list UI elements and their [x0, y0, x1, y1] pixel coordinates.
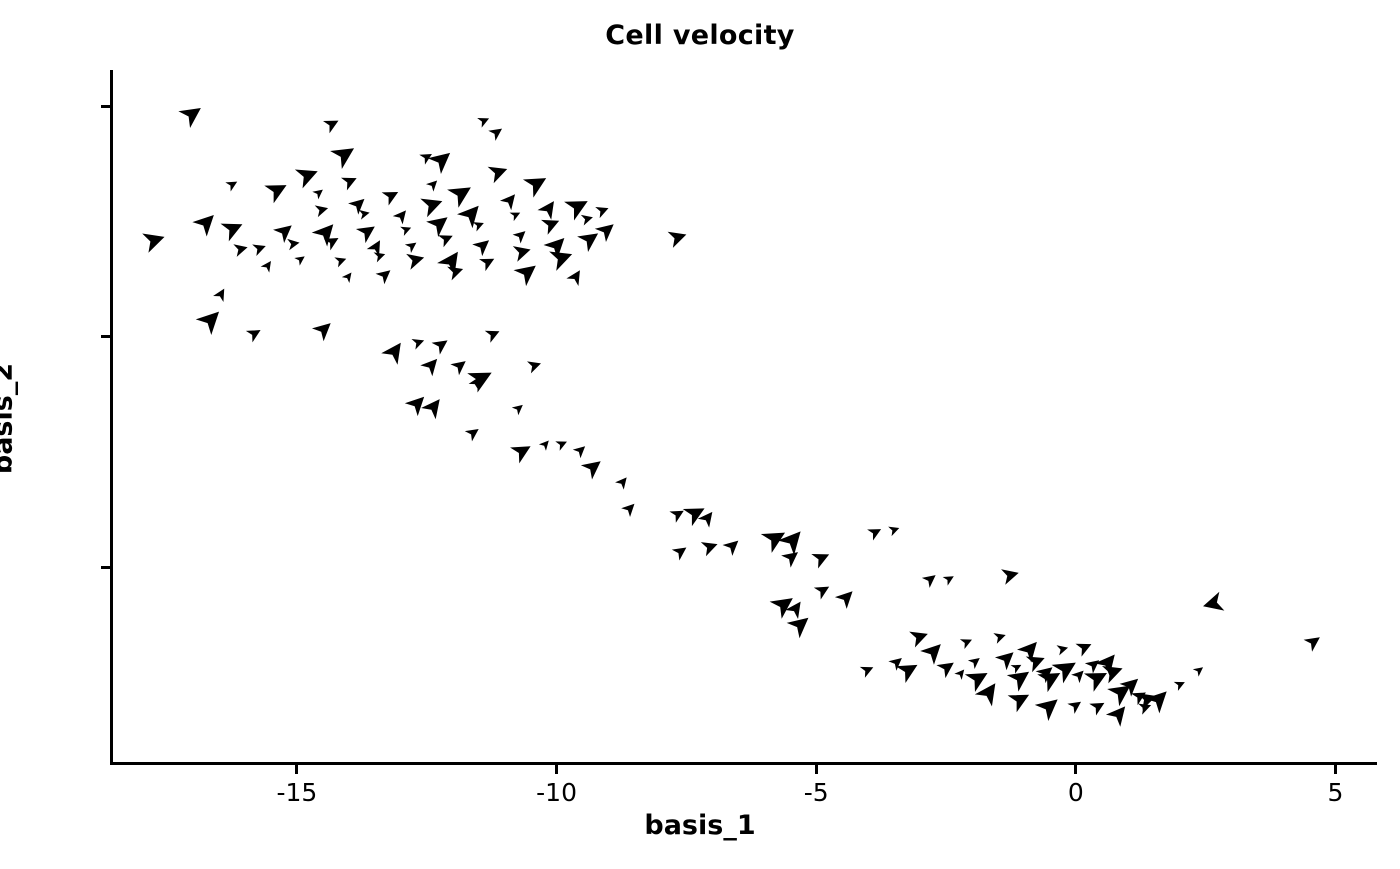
velocity-arrow-marker — [968, 654, 983, 669]
arrowhead-icon — [426, 177, 441, 192]
arrowhead-icon — [723, 535, 744, 556]
arrowhead-icon — [1075, 638, 1094, 657]
velocity-arrow-marker — [867, 524, 884, 541]
arrowhead-icon — [419, 149, 434, 164]
arrowhead-icon — [943, 572, 957, 586]
arrowhead-icon — [1008, 686, 1034, 712]
arrowhead-icon — [787, 610, 815, 638]
arrowhead-icon — [701, 537, 720, 556]
arrowhead-icon — [778, 524, 809, 555]
velocity-arrow-marker — [539, 437, 552, 450]
arrowhead-icon — [513, 242, 533, 262]
arrowhead-icon — [564, 192, 593, 221]
velocity-arrow-marker — [264, 176, 291, 203]
velocity-arrow-marker — [778, 524, 809, 555]
quiver-marker-layer — [110, 70, 1377, 765]
velocity-arrow-marker — [595, 203, 611, 219]
arrowhead-icon — [968, 654, 983, 669]
arrowhead-icon — [405, 390, 431, 416]
arrowhead-icon — [472, 234, 494, 256]
arrowhead-icon — [1007, 664, 1035, 692]
arrowhead-icon — [566, 266, 585, 285]
velocity-arrow-marker — [1193, 663, 1206, 676]
velocity-arrow-marker — [192, 208, 221, 237]
arrowhead-icon — [867, 524, 884, 541]
arrowhead-icon — [1057, 643, 1070, 656]
arrowhead-icon — [142, 227, 167, 252]
velocity-arrow-marker — [549, 244, 576, 271]
velocity-arrow-marker — [1075, 638, 1094, 657]
velocity-arrow-marker — [1304, 631, 1325, 652]
arrowhead-icon — [213, 286, 229, 302]
arrowhead-icon — [356, 219, 380, 243]
arrowhead-icon — [479, 253, 497, 271]
velocity-arrow-marker — [1057, 643, 1070, 656]
arrowhead-icon — [860, 662, 876, 678]
velocity-arrow-marker — [1035, 691, 1065, 721]
arrowhead-icon — [954, 666, 968, 680]
velocity-arrow-marker — [1007, 664, 1035, 692]
velocity-arrow-marker — [564, 192, 593, 221]
velocity-arrow-marker — [374, 249, 387, 262]
velocity-arrow-marker — [420, 353, 443, 376]
arrowhead-icon — [555, 437, 569, 451]
velocity-arrow-marker — [432, 334, 452, 354]
x-tick-label: -5 — [804, 778, 829, 807]
velocity-arrow-marker — [312, 217, 341, 246]
x-axis-label: basis_1 — [0, 810, 1400, 841]
velocity-arrow-marker — [376, 265, 395, 284]
velocity-arrow-marker — [225, 177, 240, 192]
arrowhead-icon — [523, 169, 551, 197]
velocity-arrow-marker — [621, 499, 639, 517]
velocity-arrow-marker — [787, 610, 815, 638]
arrowhead-icon — [510, 208, 523, 221]
arrowhead-icon — [835, 585, 859, 609]
velocity-arrow-marker — [581, 212, 594, 225]
arrowhead-icon — [1001, 565, 1021, 585]
arrowhead-icon — [323, 115, 342, 134]
arrowhead-icon — [432, 334, 452, 354]
velocity-arrow-marker — [233, 241, 249, 257]
arrowhead-icon — [294, 253, 307, 266]
arrowhead-icon — [936, 656, 958, 678]
arrowhead-icon — [595, 218, 619, 242]
arrowhead-icon — [500, 190, 521, 211]
arrowhead-icon — [1089, 697, 1108, 716]
arrowhead-icon — [1067, 697, 1084, 714]
velocity-arrow-marker — [513, 242, 533, 262]
arrowhead-icon — [405, 238, 420, 253]
x-tick-mark — [1074, 765, 1077, 774]
cell-velocity-figure: Cell velocity 01020 -15-10-505 basis_1 b… — [0, 0, 1400, 866]
arrowhead-icon — [539, 437, 552, 450]
arrowhead-icon — [264, 176, 291, 203]
arrowhead-icon — [374, 249, 387, 262]
velocity-arrow-marker — [406, 250, 426, 270]
velocity-arrow-marker — [428, 145, 457, 174]
velocity-arrow-marker — [920, 637, 948, 665]
velocity-arrow-marker — [196, 304, 227, 335]
velocity-arrow-marker — [438, 230, 456, 248]
velocity-arrow-marker — [294, 253, 307, 266]
velocity-arrow-marker — [668, 226, 689, 247]
x-tick-mark — [1334, 765, 1337, 774]
velocity-arrow-marker — [287, 237, 300, 250]
velocity-arrow-marker — [723, 535, 744, 556]
velocity-arrow-marker — [770, 590, 799, 619]
arrowhead-icon — [920, 637, 948, 665]
arrowhead-icon — [621, 499, 639, 517]
velocity-arrow-marker — [356, 219, 380, 243]
arrowhead-icon — [513, 227, 530, 244]
arrowhead-icon — [811, 547, 832, 568]
velocity-arrow-marker — [420, 192, 445, 217]
velocity-arrow-marker — [359, 208, 371, 220]
arrowhead-icon — [342, 270, 355, 283]
arrowhead-icon — [465, 424, 483, 442]
arrowhead-icon — [527, 357, 543, 373]
velocity-arrow-marker — [669, 505, 687, 523]
arrowhead-icon — [178, 100, 206, 128]
velocity-arrow-marker — [330, 139, 360, 169]
arrowhead-icon — [261, 258, 276, 273]
arrowhead-icon — [672, 542, 690, 560]
velocity-arrow-marker — [419, 149, 434, 164]
velocity-arrow-marker — [922, 570, 940, 588]
velocity-arrow-marker — [400, 223, 413, 236]
arrowhead-icon — [295, 162, 322, 189]
arrowhead-icon — [1011, 661, 1024, 674]
velocity-arrow-marker — [1174, 678, 1187, 691]
velocity-arrow-marker — [1067, 697, 1084, 714]
arrowhead-icon — [909, 626, 931, 648]
velocity-arrow-marker — [246, 324, 264, 342]
arrowhead-icon — [447, 178, 476, 207]
plot-axes: 01020 -15-10-505 — [110, 70, 1377, 765]
arrowhead-icon — [233, 241, 249, 257]
arrowhead-icon — [922, 570, 940, 588]
velocity-arrow-marker — [1008, 686, 1034, 712]
velocity-arrow-marker — [701, 537, 720, 556]
velocity-arrow-marker — [523, 169, 551, 197]
velocity-arrow-marker — [405, 390, 431, 416]
arrowhead-icon — [393, 206, 411, 224]
arrowhead-icon — [252, 240, 268, 256]
arrowhead-icon — [381, 337, 409, 365]
arrowhead-icon — [438, 230, 456, 248]
velocity-arrow-marker — [954, 666, 968, 680]
arrowhead-icon — [287, 237, 300, 250]
velocity-arrow-marker — [595, 218, 619, 242]
arrowhead-icon — [814, 581, 833, 600]
velocity-arrow-marker — [312, 317, 337, 342]
velocity-arrow-marker — [261, 258, 276, 273]
arrowhead-icon — [549, 244, 576, 271]
velocity-arrow-marker — [888, 523, 901, 536]
arrowhead-icon — [510, 438, 535, 463]
velocity-arrow-marker — [315, 202, 330, 217]
velocity-arrow-marker — [1071, 666, 1088, 683]
velocity-arrow-marker — [411, 335, 426, 350]
velocity-arrow-marker — [341, 172, 360, 191]
velocity-arrow-marker — [615, 474, 631, 490]
velocity-arrow-marker — [555, 437, 569, 451]
velocity-arrow-marker — [683, 500, 709, 526]
velocity-arrow-marker — [510, 208, 523, 221]
arrowhead-icon — [595, 203, 611, 219]
velocity-arrow-marker — [467, 363, 497, 393]
velocity-arrow-marker — [512, 401, 526, 415]
arrowhead-icon — [225, 177, 240, 192]
arrowhead-icon — [485, 325, 502, 342]
velocity-arrow-marker — [566, 266, 585, 285]
velocity-arrow-marker — [252, 240, 268, 256]
y-tick-mark — [101, 105, 110, 108]
arrowhead-icon — [581, 212, 594, 225]
arrowhead-icon — [192, 208, 221, 237]
arrowhead-icon — [359, 208, 371, 220]
velocity-arrow-marker — [943, 572, 957, 586]
y-axis-label: basis_2 — [0, 0, 19, 869]
arrowhead-icon — [1174, 678, 1187, 691]
velocity-arrow-marker — [513, 227, 530, 244]
velocity-arrow-marker — [1001, 565, 1021, 585]
velocity-arrow-marker — [993, 630, 1007, 644]
x-tick-mark — [815, 765, 818, 774]
arrowhead-icon — [221, 215, 247, 241]
velocity-arrow-marker — [381, 337, 409, 365]
velocity-arrow-marker — [348, 193, 369, 214]
velocity-arrow-marker — [426, 177, 441, 192]
arrowhead-icon — [312, 317, 337, 342]
arrowhead-icon — [488, 124, 505, 141]
velocity-arrow-marker — [581, 454, 606, 479]
arrowhead-icon — [541, 213, 562, 234]
velocity-arrow-marker — [1201, 592, 1225, 616]
velocity-arrow-marker — [178, 100, 206, 128]
velocity-arrow-marker — [465, 424, 483, 442]
velocity-arrow-marker — [421, 393, 447, 419]
velocity-arrow-marker — [342, 270, 355, 283]
velocity-arrow-marker — [573, 442, 589, 458]
velocity-arrow-marker — [273, 219, 297, 243]
x-tick-label: 5 — [1328, 778, 1344, 807]
arrowhead-icon — [477, 114, 491, 128]
velocity-arrow-marker — [835, 585, 859, 609]
arrowhead-icon — [960, 635, 974, 649]
velocity-arrow-marker — [485, 325, 502, 342]
arrowhead-icon — [450, 356, 470, 376]
arrowhead-icon — [330, 139, 360, 169]
arrowhead-icon — [669, 505, 687, 523]
velocity-arrow-marker — [393, 206, 411, 224]
velocity-arrow-marker — [312, 186, 326, 200]
arrowhead-icon — [428, 145, 457, 174]
velocity-arrow-marker — [537, 196, 560, 219]
velocity-arrow-marker — [450, 356, 470, 376]
y-tick-mark — [101, 566, 110, 569]
arrowhead-icon — [488, 161, 511, 184]
arrowhead-icon — [1201, 592, 1225, 616]
velocity-arrow-marker — [1011, 661, 1024, 674]
arrowhead-icon — [400, 223, 413, 236]
arrowhead-icon — [382, 185, 402, 205]
arrowhead-icon — [573, 442, 589, 458]
arrowhead-icon — [1071, 666, 1088, 683]
arrowhead-icon — [1304, 631, 1325, 652]
arrowhead-icon — [411, 335, 426, 350]
velocity-arrow-marker — [500, 190, 521, 211]
velocity-arrow-marker — [860, 662, 876, 678]
velocity-arrow-marker — [527, 357, 543, 373]
velocity-arrow-marker — [960, 635, 974, 649]
velocity-arrow-marker — [405, 238, 420, 253]
velocity-arrow-marker — [477, 114, 491, 128]
velocity-arrow-marker — [814, 581, 833, 600]
arrowhead-icon — [246, 324, 264, 342]
arrowhead-icon — [514, 258, 543, 287]
velocity-arrow-marker — [323, 115, 342, 134]
arrowhead-icon — [406, 250, 426, 270]
velocity-arrow-marker — [213, 286, 229, 302]
arrowhead-icon — [334, 254, 348, 268]
arrowhead-icon — [421, 393, 447, 419]
velocity-arrow-marker — [295, 162, 322, 189]
x-tick-mark — [555, 765, 558, 774]
y-tick-mark — [101, 335, 110, 338]
velocity-arrow-marker — [1145, 684, 1174, 713]
arrowhead-icon — [581, 454, 606, 479]
arrowhead-icon — [1145, 684, 1174, 713]
velocity-arrow-marker — [382, 185, 402, 205]
velocity-arrow-marker — [142, 227, 167, 252]
arrowhead-icon — [420, 192, 445, 217]
velocity-arrow-marker — [479, 253, 497, 271]
velocity-arrow-marker — [488, 161, 511, 184]
arrowhead-icon — [273, 219, 297, 243]
velocity-arrow-marker — [936, 656, 958, 678]
arrowhead-icon — [196, 304, 227, 335]
arrowhead-icon — [770, 590, 799, 619]
arrowhead-icon — [537, 196, 560, 219]
arrowhead-icon — [315, 202, 330, 217]
arrowhead-icon — [683, 500, 709, 526]
x-tick-label: -10 — [536, 778, 577, 807]
arrowhead-icon — [1035, 691, 1065, 721]
x-tick-label: -15 — [277, 778, 318, 807]
arrowhead-icon — [348, 193, 369, 214]
arrowhead-icon — [467, 363, 497, 393]
arrowhead-icon — [888, 523, 901, 536]
arrowhead-icon — [312, 186, 326, 200]
velocity-arrow-marker — [909, 626, 931, 648]
velocity-arrow-marker — [811, 547, 832, 568]
arrowhead-icon — [1193, 663, 1206, 676]
arrowhead-icon — [376, 265, 395, 284]
velocity-arrow-marker — [221, 215, 247, 241]
x-tick-label: 0 — [1068, 778, 1084, 807]
velocity-arrow-marker — [334, 254, 348, 268]
velocity-arrow-marker — [472, 234, 494, 256]
arrowhead-icon — [668, 226, 689, 247]
velocity-arrow-marker — [447, 178, 476, 207]
arrowhead-icon — [420, 353, 443, 376]
velocity-arrow-marker — [488, 124, 505, 141]
velocity-arrow-marker — [1089, 697, 1108, 716]
arrowhead-icon — [615, 474, 631, 490]
page-title: Cell velocity — [0, 20, 1400, 51]
arrowhead-icon — [312, 217, 341, 246]
arrowhead-icon — [341, 172, 360, 191]
velocity-arrow-marker — [510, 438, 535, 463]
velocity-arrow-marker — [672, 542, 690, 560]
velocity-arrow-marker — [514, 258, 543, 287]
arrowhead-icon — [512, 401, 526, 415]
x-tick-mark — [295, 765, 298, 774]
arrowhead-icon — [993, 630, 1007, 644]
velocity-arrow-marker — [541, 213, 562, 234]
